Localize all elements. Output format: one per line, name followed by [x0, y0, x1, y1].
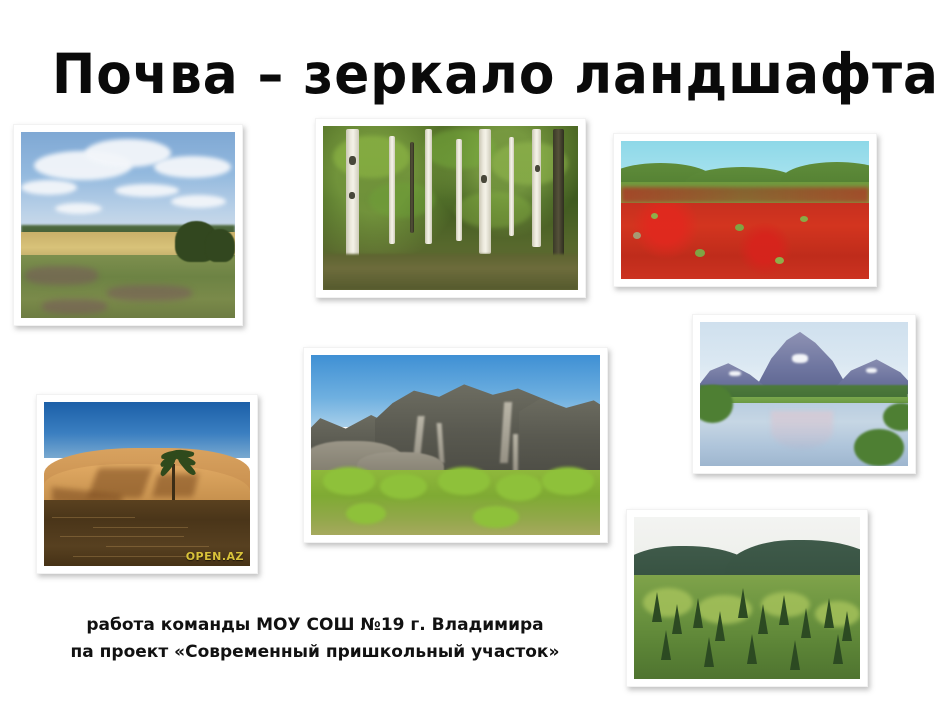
birch-forest-image	[323, 126, 578, 290]
poppy-field-photo	[613, 133, 877, 287]
mountain-lake-photo	[692, 314, 916, 474]
slide-canvas: Почва – зеркало ландшафта	[0, 0, 940, 705]
taiga-forest-image	[634, 517, 860, 679]
desert-dunes-image: OPEN.AZ	[44, 402, 250, 566]
rocky-mountain-image	[311, 355, 600, 535]
poppy-field-image	[621, 141, 869, 279]
caption-line-1: работа команды МОУ СОШ №19 г. Владимира	[50, 612, 580, 639]
taiga-forest-photo	[626, 509, 868, 687]
steppe-meadow-image	[21, 132, 235, 318]
mountain-lake-image	[700, 322, 908, 466]
rocky-mountain-photo	[303, 347, 608, 543]
watermark-label: OPEN.AZ	[186, 550, 244, 563]
steppe-meadow-photo	[13, 124, 243, 326]
slide-caption: работа команды МОУ СОШ №19 г. Владимира …	[50, 612, 580, 666]
birch-forest-photo	[315, 118, 586, 298]
caption-line-2: па проект «Современный пришкольный участ…	[50, 639, 580, 666]
page-title: Почва – зеркало ландшафта	[52, 44, 804, 104]
desert-dunes-photo: OPEN.AZ	[36, 394, 258, 574]
